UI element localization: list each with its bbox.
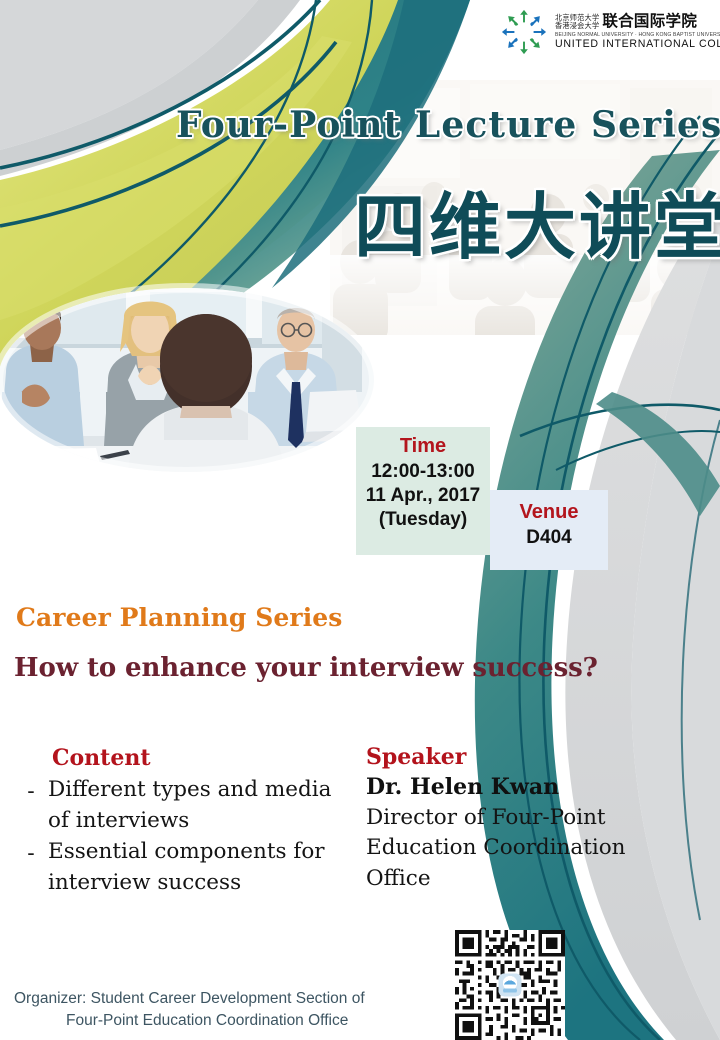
time-value-hours: 12:00-13:00 [371,460,475,484]
logo-cn-line1: 北京师范大学 [555,14,599,21]
uic-emblem-icon [500,8,548,56]
logo-en-main: UNITED INTERNATIONAL COLLEGE [555,39,720,50]
qr-code[interactable] [455,930,565,1040]
content-item-text: Different types and media of interviews [48,775,354,836]
speaker-heading: Speaker [366,744,666,770]
time-value-weekday: (Tuesday) [379,508,467,532]
speaker-role: Director of Four-Point Education Coordin… [366,803,666,895]
time-value-date: 11 Apr., 2017 [366,484,480,508]
organizer-line-1: Organizer: Student Career Development Se… [14,988,414,1010]
speaker-section: Speaker Dr. Helen Kwan Director of Four-… [366,744,666,894]
uic-logo-text: 北京师范大学 香港浸会大学 联合国际学院 BEIJING NORMAL UNIV… [555,14,720,50]
organizer-footer: Organizer: Student Career Development Se… [14,988,414,1033]
organizer-line-2: Four-Point Education Coordination Office [14,1010,414,1032]
content-item-text: Essential components for interview succe… [48,837,354,898]
logo-cn-main: 联合国际学院 [602,14,697,30]
venue-room: D404 [526,526,571,550]
lecture-title: How to enhance your interview success? [14,653,598,683]
qr-code-image[interactable] [455,930,565,1040]
time-box: Time 12:00-13:00 11 Apr., 2017 (Tuesday) [356,427,490,555]
bullet-dash-icon: - [14,775,48,807]
poster-canvas: 北京师范大学 香港浸会大学 联合国际学院 BEIJING NORMAL UNIV… [0,0,720,1040]
venue-heading: Venue [520,499,579,526]
speaker-name: Dr. Helen Kwan [366,773,666,802]
series-label: Career Planning Series [16,603,342,632]
uic-logo: 北京师范大学 香港浸会大学 联合国际学院 BEIJING NORMAL UNIV… [500,8,720,56]
venue-box: Venue D404 [490,490,608,570]
content-section: Content - Different types and media of i… [14,745,354,898]
content-list-item: - Different types and media of interview… [14,775,354,836]
content-heading: Content [52,745,354,771]
content-list-item: - Essential components for interview suc… [14,837,354,898]
poster-title-english: Four-Point Lecture Series [176,104,720,146]
bullet-dash-icon: - [14,837,48,869]
logo-cn-line2: 香港浸会大学 [555,22,599,29]
time-heading: Time [400,433,446,460]
poster-title-chinese: 四维大讲堂 [354,168,720,273]
